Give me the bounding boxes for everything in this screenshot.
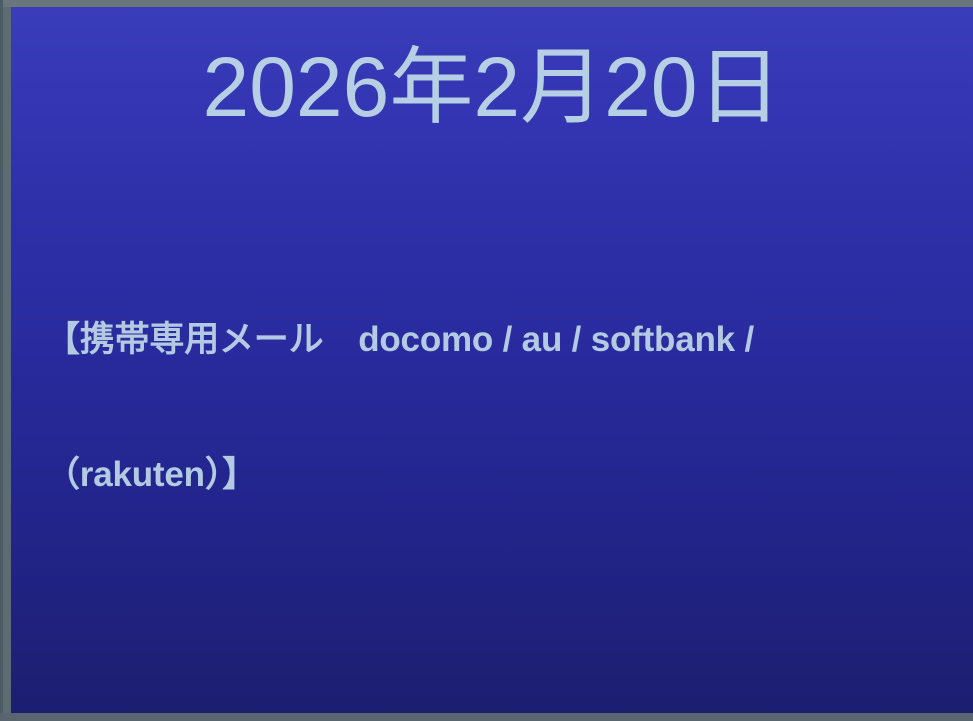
slide-frame-top-border — [0, 0, 973, 7]
slide-frame-bottom-border — [0, 713, 973, 721]
slide-body-text: 【携帯専用メール docomo / au / softbank / （rakut… — [45, 182, 955, 713]
body-spacer-1 — [45, 632, 955, 677]
body-heading-line-1: 【携帯専用メール docomo / au / softbank / — [45, 317, 955, 362]
body-heading-line-2: （rakuten）】 — [45, 452, 955, 497]
presentation-slide: 2026年2月20日 【携帯専用メール docomo / au / softba… — [0, 0, 973, 721]
slide-frame-left-border — [0, 0, 3, 721]
slide-content-area: 2026年2月20日 【携帯専用メール docomo / au / softba… — [11, 7, 973, 713]
slide-title: 2026年2月20日 — [11, 41, 973, 133]
